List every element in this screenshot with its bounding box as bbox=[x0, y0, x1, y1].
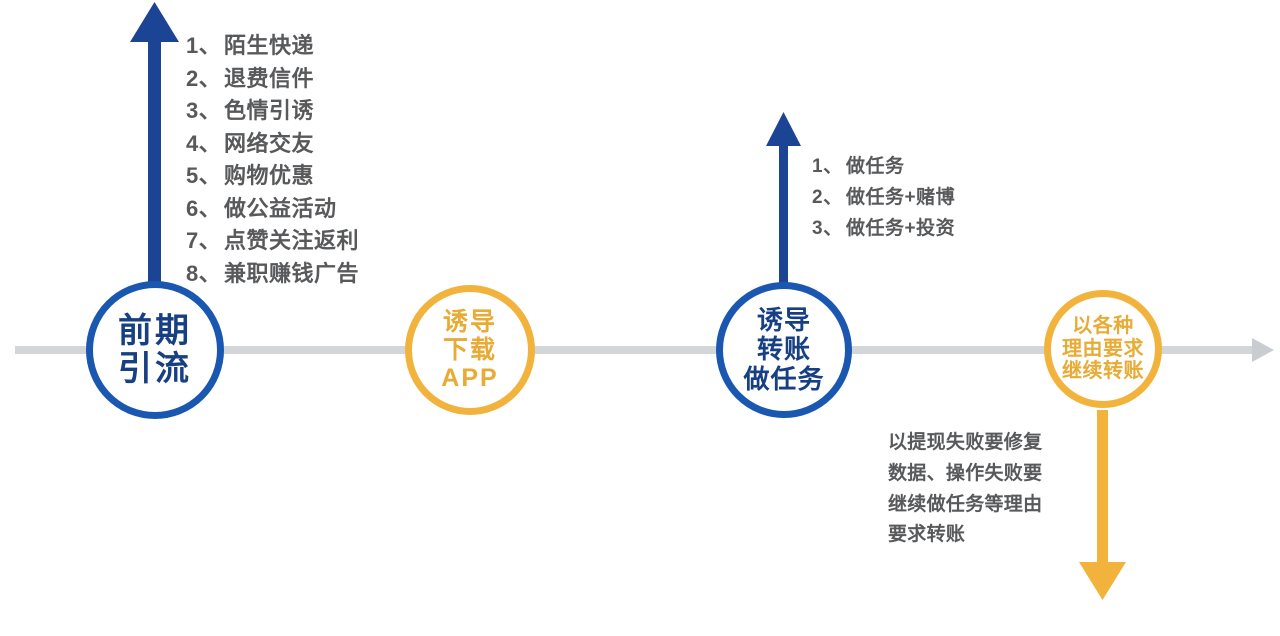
list-item-number: 8、 bbox=[186, 258, 224, 291]
list-item-number: 4、 bbox=[186, 128, 224, 161]
stage-node-以各种理由要求继续转账[interactable]: 以各种 理由要求 继续转账 bbox=[1044, 290, 1162, 408]
list-item-number: 3、 bbox=[812, 214, 846, 245]
paragraph-line: 数据、操作失败要 bbox=[888, 459, 1088, 490]
list-item-number: 1、 bbox=[186, 30, 224, 63]
arrow-up-stage-3 bbox=[766, 112, 801, 288]
infographic-canvas: 前期 引流 诱导 下载 APP 诱导 转账 做任务 以各种 理由要求 继续转账 … bbox=[0, 0, 1280, 636]
list-item: 2、 做任务+赌博 bbox=[812, 183, 955, 214]
list-item: 7、 点赞关注返利 bbox=[186, 225, 359, 258]
node-label-line: 前期 bbox=[118, 312, 192, 350]
annotation-list-stage-1: 1、 陌生快递 2、 退费信件 3、 色情引诱 4、 网络交友 5、 购物优惠 … bbox=[186, 30, 359, 290]
stage-node-前期引流[interactable]: 前期 引流 bbox=[86, 281, 224, 419]
list-item-text: 做任务 bbox=[846, 152, 905, 183]
node-label-line: 下载 bbox=[443, 336, 497, 364]
node-label-line: 转账 bbox=[757, 335, 811, 364]
node-label-line: 继续转账 bbox=[1062, 360, 1144, 382]
list-item: 8、 兼职赚钱广告 bbox=[186, 258, 359, 291]
list-item-text: 兼职赚钱广告 bbox=[224, 258, 359, 291]
list-item-text: 退费信件 bbox=[224, 63, 314, 96]
annotation-paragraph-stage-4: 以提现失败要修复 数据、操作失败要 继续做任务等理由 要求转账 bbox=[888, 428, 1088, 551]
node-label-line: 以各种 bbox=[1072, 315, 1134, 337]
list-item: 3、 色情引诱 bbox=[186, 95, 359, 128]
node-label-line: 引流 bbox=[118, 350, 192, 388]
annotation-list-stage-3: 1、 做任务 2、 做任务+赌博 3、 做任务+投资 bbox=[812, 152, 955, 245]
list-item-text: 色情引诱 bbox=[224, 95, 314, 128]
list-item-text: 点赞关注返利 bbox=[224, 225, 359, 258]
stage-node-诱导下载app[interactable]: 诱导 下载 APP bbox=[405, 285, 535, 415]
list-item: 3、 做任务+投资 bbox=[812, 214, 955, 245]
node-label-line: 诱导 bbox=[443, 308, 497, 336]
list-item-number: 6、 bbox=[186, 193, 224, 226]
node-label-line: APP bbox=[441, 364, 498, 392]
paragraph-line: 继续做任务等理由 bbox=[888, 490, 1088, 521]
node-label-line: 理由要求 bbox=[1062, 338, 1144, 360]
list-item: 1、 陌生快递 bbox=[186, 30, 359, 63]
list-item-number: 1、 bbox=[812, 152, 846, 183]
list-item-number: 2、 bbox=[812, 183, 846, 214]
list-item-text: 网络交友 bbox=[224, 128, 314, 161]
list-item-number: 3、 bbox=[186, 95, 224, 128]
list-item-text: 做公益活动 bbox=[224, 193, 337, 226]
paragraph-line: 以提现失败要修复 bbox=[888, 428, 1088, 459]
list-item-number: 7、 bbox=[186, 225, 224, 258]
list-item: 5、 购物优惠 bbox=[186, 160, 359, 193]
list-item: 2、 退费信件 bbox=[186, 63, 359, 96]
stage-node-诱导转账做任务[interactable]: 诱导 转账 做任务 bbox=[716, 282, 852, 418]
node-label-line: 诱导 bbox=[757, 306, 811, 335]
list-item-text: 做任务+赌博 bbox=[846, 183, 955, 214]
list-item-text: 陌生快递 bbox=[224, 30, 314, 63]
paragraph-line: 要求转账 bbox=[888, 520, 1088, 551]
list-item: 4、 网络交友 bbox=[186, 128, 359, 161]
list-item-text: 购物优惠 bbox=[224, 160, 314, 193]
node-label-line: 做任务 bbox=[743, 365, 824, 394]
list-item-text: 做任务+投资 bbox=[846, 214, 955, 245]
list-item-number: 5、 bbox=[186, 160, 224, 193]
list-item: 6、 做公益活动 bbox=[186, 193, 359, 226]
list-item: 1、 做任务 bbox=[812, 152, 955, 183]
arrow-up-stage-1 bbox=[130, 2, 179, 288]
list-item-number: 2、 bbox=[186, 63, 224, 96]
